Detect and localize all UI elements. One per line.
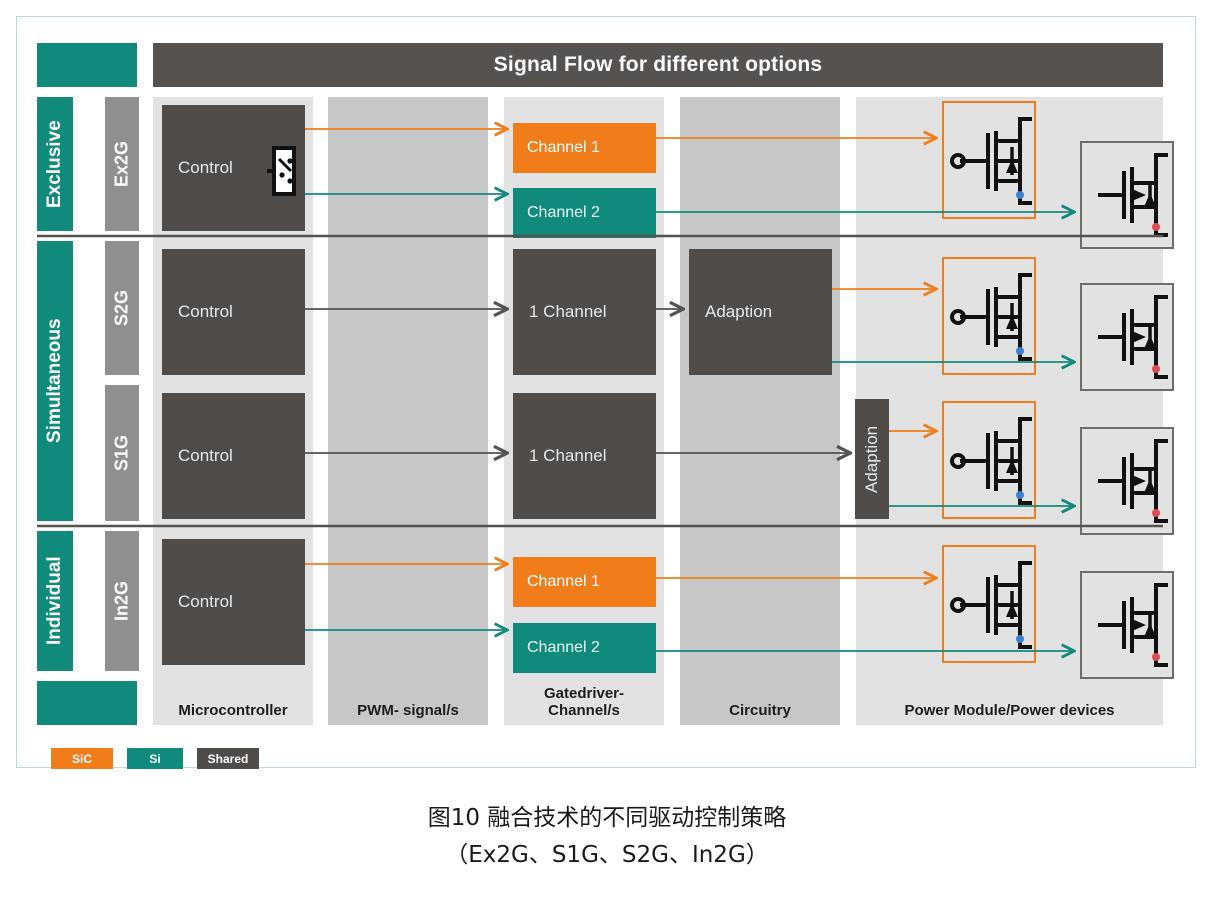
title-row-corner-block — [37, 43, 137, 87]
si-igbt-symbol-ex2g — [1080, 141, 1174, 249]
category-label-simultaneous: Simultaneous — [44, 319, 66, 444]
adaption-label-s1g: Adaption — [862, 425, 882, 492]
gatedriver-1channel-label-s2g: 1 Channel — [529, 302, 607, 322]
column-label-gatedriver-line2: Channel/s — [548, 702, 620, 719]
gatedriver-channel2-label-in2g: Channel 2 — [527, 639, 600, 657]
sic-mosfet-symbol-s1g — [942, 401, 1036, 519]
sic-mosfet-symbol-s2g — [942, 257, 1036, 375]
gatedriver-1channel-s1g: 1 Channel — [513, 393, 656, 519]
gatedriver-1channel-s2g: 1 Channel — [513, 249, 656, 375]
column-label-microcontroller: Microcontroller — [153, 702, 313, 719]
gatedriver-channel2-label-ex2g: Channel 2 — [527, 204, 600, 222]
column-band-circuitry: Circuitry — [680, 97, 840, 725]
control-label-s2g: Control — [178, 302, 233, 322]
si-igbt-symbol-s2g — [1080, 283, 1174, 391]
sic-mosfet-symbol-ex2g — [942, 101, 1036, 219]
legend-item-sic: SiC — [51, 748, 113, 769]
control-label-ex2g: Control — [178, 158, 233, 178]
sic-mosfet-symbol-in2g — [942, 545, 1036, 663]
gatedriver-1channel-label-s1g: 1 Channel — [529, 446, 607, 466]
adaption-box-s2g: Adaption — [689, 249, 832, 375]
column-label-power: Power Module/Power devices — [856, 702, 1163, 719]
option-label-s2g: S2G — [112, 290, 133, 326]
gatedriver-channel1-in2g: Channel 1 — [513, 557, 656, 607]
category-label-exclusive: Exclusive — [44, 120, 66, 208]
column-band-pwm: PWM- signal/s — [328, 97, 488, 725]
gatedriver-channel2-in2g: Channel 2 — [513, 623, 656, 673]
control-label-in2g: Control — [178, 592, 233, 612]
category-individual: Individual — [37, 531, 73, 671]
category-label-individual: Individual — [44, 557, 66, 646]
column-label-pwm: PWM- signal/s — [328, 702, 488, 719]
legend-label-si: Si — [149, 752, 160, 766]
column-label-gatedriver: Gatedriver- Channel/s — [504, 685, 664, 720]
figure-root: Signal Flow for different options Exclus… — [0, 0, 1214, 899]
option-in2g: In2G — [105, 531, 139, 671]
adaption-label-s2g: Adaption — [705, 302, 772, 322]
gatedriver-channel2-ex2g: Channel 2 — [513, 188, 656, 238]
gatedriver-channel1-label-in2g: Channel 1 — [527, 573, 600, 591]
figure-caption: 图10 融合技术的不同驱动控制策略 （Ex2G、S1G、S2G、In2G） — [0, 800, 1214, 875]
column-label-gatedriver-line1: Gatedriver- — [544, 685, 624, 702]
category-exclusive: Exclusive — [37, 97, 73, 231]
option-label-in2g: In2G — [112, 581, 133, 621]
control-box-s1g: Control — [162, 393, 305, 519]
legend-item-shared: Shared — [197, 748, 259, 769]
legend: SiC Si Shared — [51, 748, 259, 769]
category-simultaneous: Simultaneous — [37, 241, 73, 521]
column-label-circuitry: Circuitry — [680, 702, 840, 719]
gatedriver-channel1-ex2g: Channel 1 — [513, 123, 656, 173]
diagram-title: Signal Flow for different options — [494, 53, 823, 77]
control-label-s1g: Control — [178, 446, 233, 466]
adaption-box-s1g: Adaption — [855, 399, 889, 519]
option-label-s1g: S1G — [112, 435, 133, 471]
option-label-ex2g: Ex2G — [112, 141, 133, 187]
diagram-canvas: Signal Flow for different options Exclus… — [17, 17, 1197, 769]
diagram-title-bar: Signal Flow for different options — [153, 43, 1163, 87]
legend-label-shared: Shared — [208, 752, 249, 766]
legend-label-sic: SiC — [72, 752, 92, 766]
si-igbt-symbol-s1g — [1080, 427, 1174, 535]
option-ex2g: Ex2G — [105, 97, 139, 231]
legend-item-si: Si — [127, 748, 183, 769]
category-footer-block — [37, 681, 137, 725]
control-box-s2g: Control — [162, 249, 305, 375]
control-box-in2g: Control — [162, 539, 305, 665]
figure-caption-line1: 图10 融合技术的不同驱动控制策略 — [0, 800, 1214, 837]
figure-caption-line2: （Ex2G、S1G、S2G、In2G） — [0, 837, 1214, 874]
option-s1g: S1G — [105, 385, 139, 521]
figure-frame: Signal Flow for different options Exclus… — [16, 16, 1196, 768]
gatedriver-channel1-label-ex2g: Channel 1 — [527, 139, 600, 157]
si-igbt-symbol-in2g — [1080, 571, 1174, 679]
option-s2g: S2G — [105, 241, 139, 375]
switch-icon-ex2g — [267, 145, 301, 197]
